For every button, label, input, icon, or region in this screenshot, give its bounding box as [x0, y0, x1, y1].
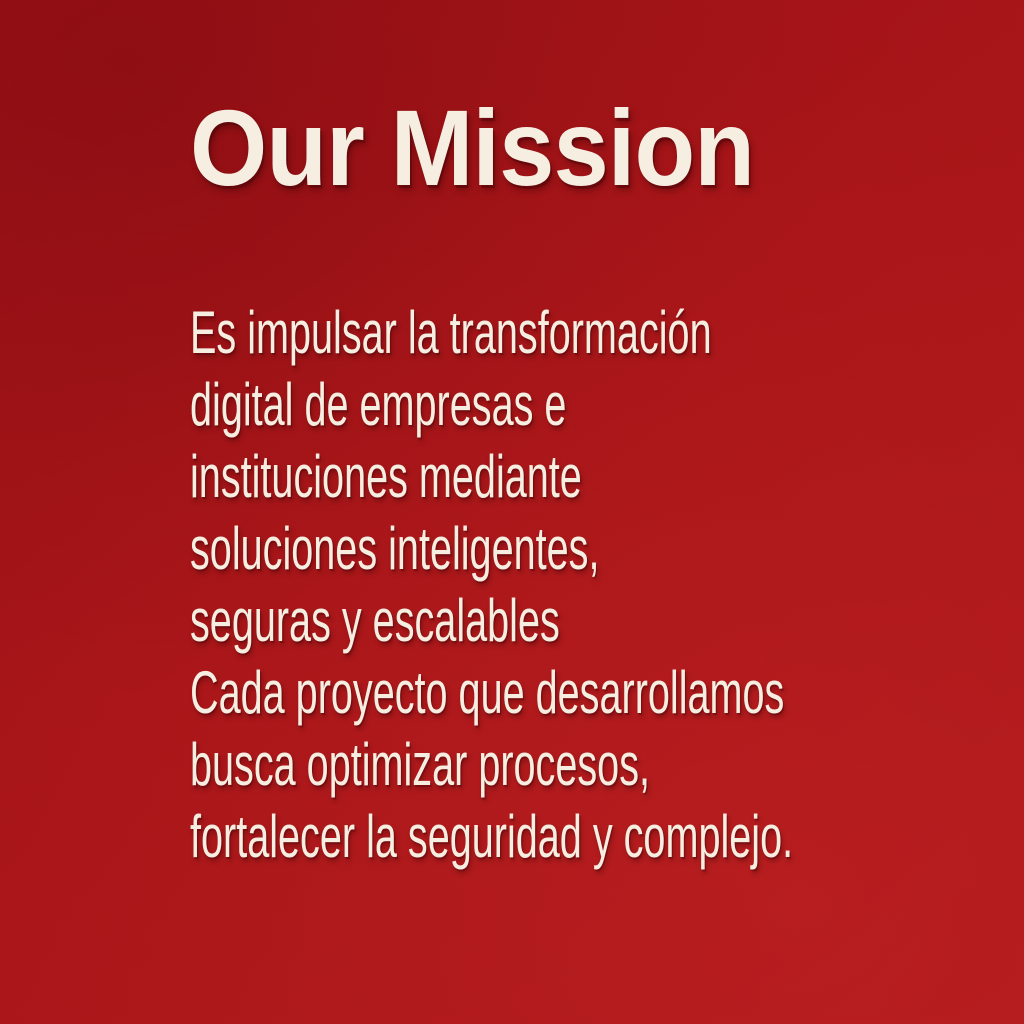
- mission-text-line: Es impulsar la transformación: [190, 297, 731, 369]
- mission-text-line: soluciones inteligentes,: [190, 513, 731, 585]
- mission-slide: Our Mission Es impulsar la transformació…: [0, 0, 1024, 1024]
- mission-text-line: instituciones mediante: [190, 441, 731, 513]
- mission-text-line: busca optimizar procesos,: [190, 729, 731, 801]
- mission-text-line: Cada proyecto que desarrollamos: [190, 657, 731, 729]
- mission-text-line: seguras y escalables: [190, 585, 731, 657]
- page-title: Our Mission: [190, 96, 754, 200]
- mission-text-line: digital de empresas e: [190, 369, 731, 441]
- mission-body: Es impulsar la transformación digital de…: [190, 297, 1010, 873]
- mission-text-line: fortalecer la seguridad y complejo.: [190, 801, 731, 873]
